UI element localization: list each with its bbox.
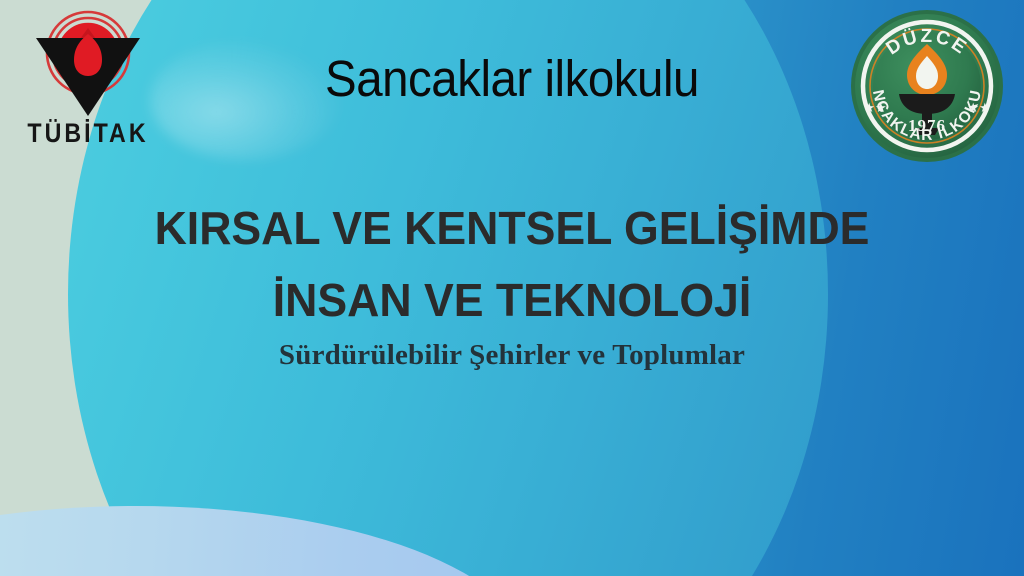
subtitle-text: Sürdürülebilir Şehirler ve Toplumlar <box>0 339 1024 372</box>
school-name-heading: Sancaklar ilkokulu <box>36 52 988 106</box>
title-line-2: İNSAN VE TEKNOLOJİ <box>15 264 1008 336</box>
page-title: KIRSAL VE KENTSEL GELİŞİMDE İNSAN VE TEK… <box>0 192 1024 336</box>
presentation-title-slide: TÜBİTAK <box>0 0 1024 576</box>
title-line-1: KIRSAL VE KENTSEL GELİŞİMDE <box>15 192 1008 264</box>
tubitak-wordmark: TÜBİTAK <box>19 120 157 147</box>
